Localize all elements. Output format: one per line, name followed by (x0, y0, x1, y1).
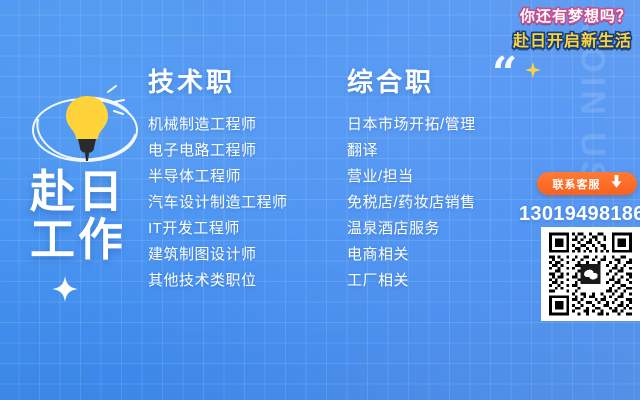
list-item: 日本市场开拓/管理 (347, 117, 476, 132)
qr-code[interactable] (541, 227, 640, 321)
page-title-line-2: 工作 (30, 216, 150, 264)
list-item: 电子电路工程师 (148, 143, 288, 158)
list-item: 机械制造工程师 (148, 117, 288, 132)
list-item: 汽车设计制造工程师 (148, 195, 288, 210)
sparkle-white-icon (52, 276, 78, 302)
recruitment-poster: JOIN US 你还有梦想吗？ 赴日开启新生活 “ (0, 0, 640, 400)
list-item: 建筑制图设计师 (148, 247, 288, 262)
page-title-line-1: 赴日 (30, 168, 150, 216)
phone-number[interactable]: 13019498186 (519, 203, 637, 226)
list-item: 温泉酒店服务 (347, 221, 476, 236)
job-column-general: 综合职 日本市场开拓/管理 翻译 营业/担当 免税店/药妆店销售 温泉酒店服务 … (347, 62, 476, 299)
list-item: 免税店/药妆店销售 (347, 195, 476, 210)
job-column-technical: 技术职 机械制造工程师 电子电路工程师 半导体工程师 汽车设计制造工程师 IT开… (148, 62, 288, 299)
list-item: 半导体工程师 (148, 169, 288, 184)
lightbulb-idea-icon (24, 82, 146, 174)
list-item: 其他技术类职位 (148, 273, 288, 288)
job-column-general-heading: 综合职 (347, 62, 476, 99)
sparkle-yellow-icon (525, 62, 541, 78)
job-list-technical: 机械制造工程师 电子电路工程师 半导体工程师 汽车设计制造工程师 IT开发工程师… (148, 117, 288, 288)
contact-support-button[interactable]: 联系客服 (537, 172, 637, 195)
list-item: 电商相关 (347, 247, 476, 262)
list-item: 翻译 (347, 143, 476, 158)
contact-support-button-label: 联系客服 (553, 176, 601, 192)
list-item: 营业/担当 (347, 169, 476, 184)
slogan-line-2: 赴日开启新生活 (513, 27, 632, 51)
quote-mark-icon: “ (492, 52, 517, 96)
page-title: 赴日 工作 (30, 168, 150, 263)
job-list-general: 日本市场开拓/管理 翻译 营业/担当 免税店/药妆店销售 温泉酒店服务 电商相关… (347, 117, 476, 288)
slogan-line-1: 你还有梦想吗？ (520, 5, 632, 26)
list-item: 工厂相关 (347, 273, 476, 288)
list-item: IT开发工程师 (148, 221, 288, 236)
arrow-down-icon (611, 175, 622, 193)
job-column-technical-heading: 技术职 (148, 62, 288, 99)
